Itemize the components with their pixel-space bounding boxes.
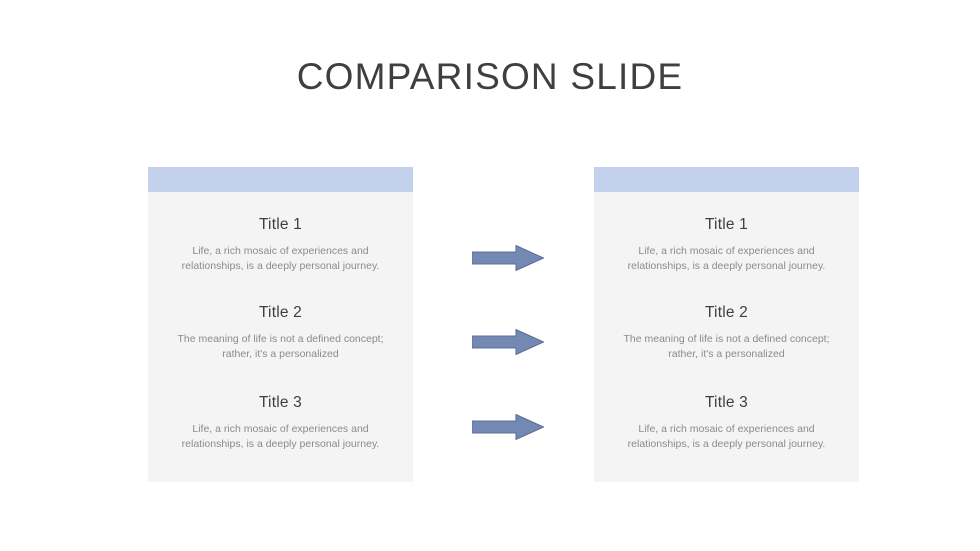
block-text-right-2: The meaning of life is not a defined con… (612, 332, 841, 362)
comparison-panel-left: Title 1 Life, a rich mosaic of experienc… (148, 167, 413, 482)
block-title-right-1: Title 1 (612, 216, 841, 235)
page-title: COMPARISON SLIDE (0, 58, 980, 95)
panel-header-band-right (594, 167, 859, 192)
block-title-left-1: Title 1 (166, 216, 395, 235)
block-title-left-2: Title 2 (166, 304, 395, 323)
block-title-right-2: Title 2 (612, 304, 841, 323)
block-text-right-3: Life, a rich mosaic of experiences and r… (612, 422, 841, 452)
content-block-right-1: Title 1 Life, a rich mosaic of experienc… (612, 216, 841, 274)
content-block-left-2: Title 2 The meaning of life is not a def… (166, 304, 395, 362)
block-text-left-3: Life, a rich mosaic of experiences and r… (166, 422, 395, 452)
comparison-slide: COMPARISON SLIDE Title 1 Life, a rich mo… (0, 0, 980, 551)
comparison-panel-right: Title 1 Life, a rich mosaic of experienc… (594, 167, 859, 482)
panel-body-right: Title 1 Life, a rich mosaic of experienc… (594, 192, 859, 482)
content-block-left-1: Title 1 Life, a rich mosaic of experienc… (166, 216, 395, 274)
panel-body-left: Title 1 Life, a rich mosaic of experienc… (148, 192, 413, 482)
block-text-left-2: The meaning of life is not a defined con… (166, 332, 395, 362)
arrow-right-icon-2 (472, 329, 544, 355)
block-text-right-1: Life, a rich mosaic of experiences and r… (612, 244, 841, 274)
content-block-right-2: Title 2 The meaning of life is not a def… (612, 304, 841, 362)
block-title-left-3: Title 3 (166, 394, 395, 413)
content-block-left-3: Title 3 Life, a rich mosaic of experienc… (166, 394, 395, 452)
panel-header-band-left (148, 167, 413, 192)
content-block-right-3: Title 3 Life, a rich mosaic of experienc… (612, 394, 841, 452)
arrow-right-icon-3 (472, 414, 544, 440)
block-text-left-1: Life, a rich mosaic of experiences and r… (166, 244, 395, 274)
arrow-right-icon-1 (472, 245, 544, 271)
block-title-right-3: Title 3 (612, 394, 841, 413)
